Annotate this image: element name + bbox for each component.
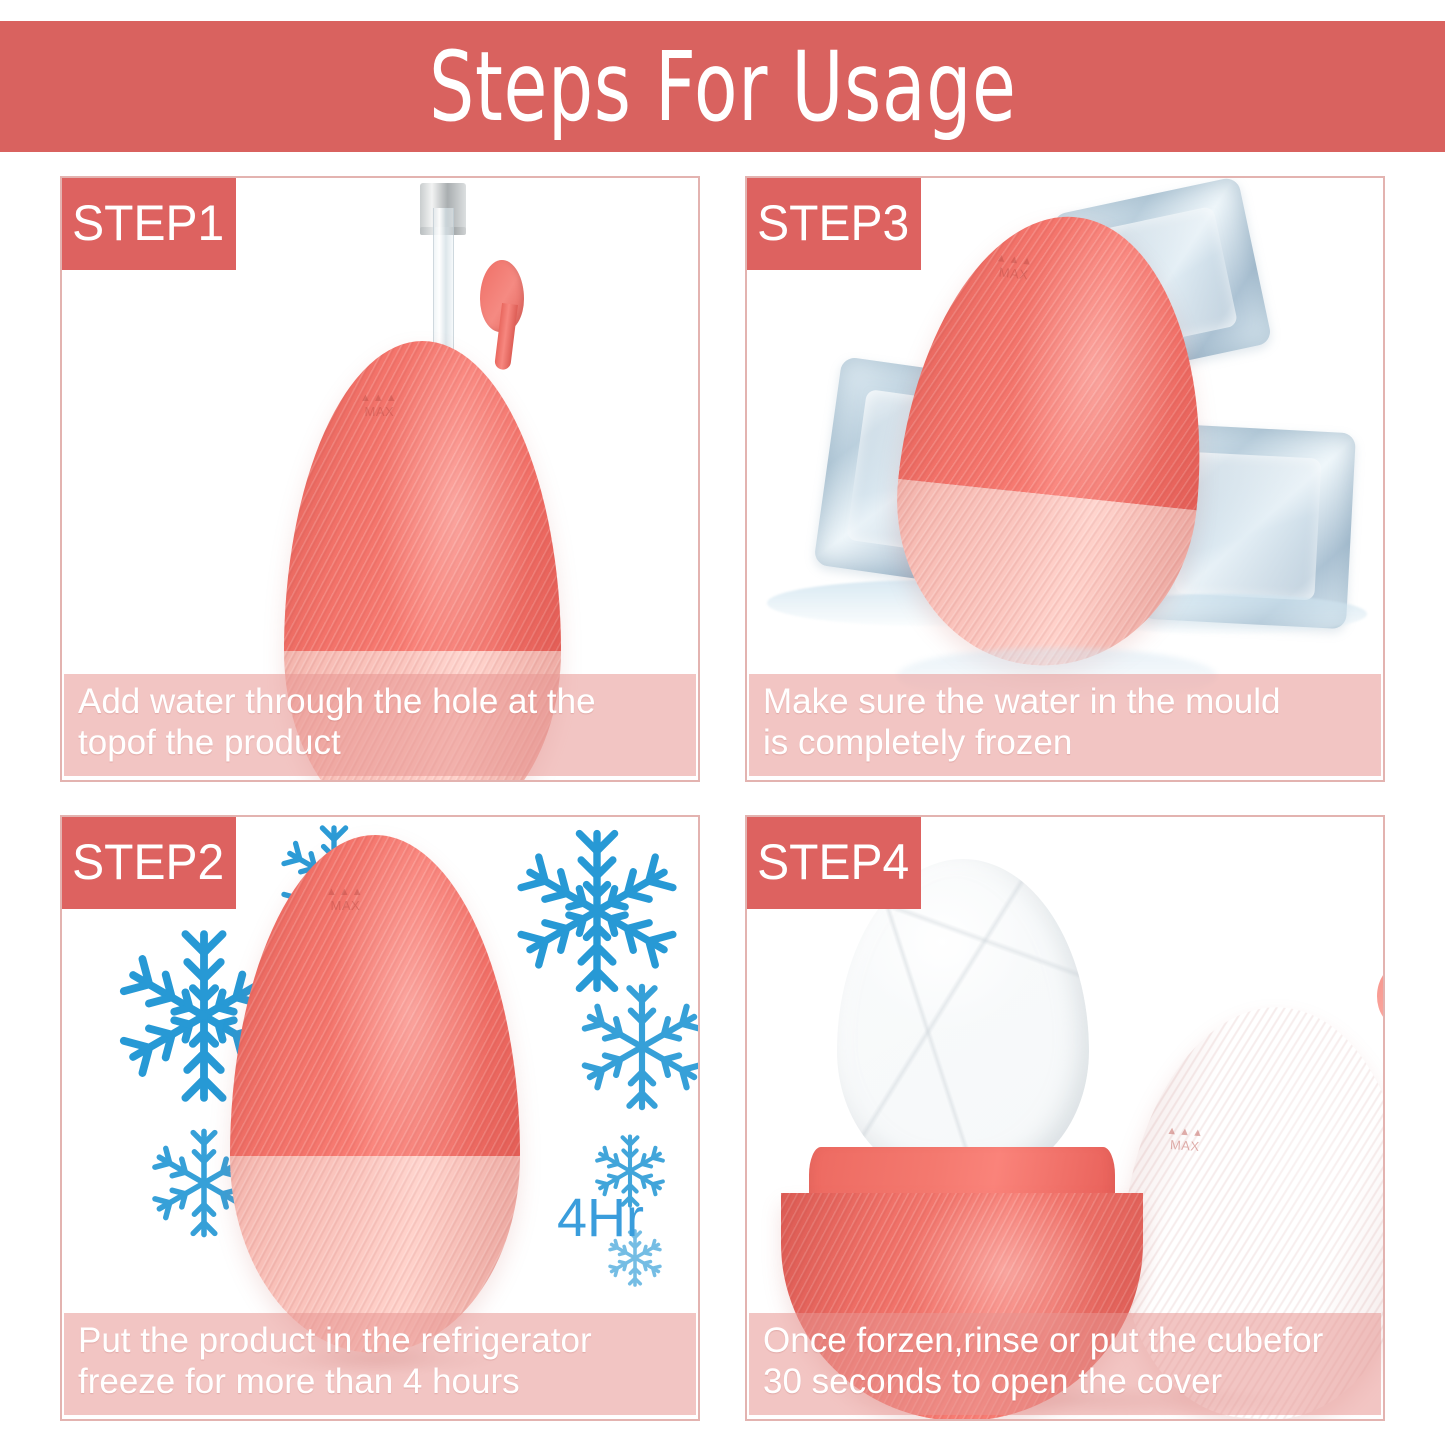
step-panel-3: ▲▲▲ MAX STEP3 Make sure the water in the… [745, 176, 1385, 782]
step-caption-1: Add water through the hole at the topof … [64, 674, 696, 776]
step-caption-2: Put the product in the refrigerator free… [64, 1313, 696, 1415]
caption-line-1: Add water through the hole at the [78, 682, 682, 723]
step-panel-2: ▲▲▲ MAX 4Hr STEP2 Put the product in the… [60, 815, 700, 1421]
max-label: MAX [1170, 1137, 1201, 1154]
step-badge-label: STEP4 [757, 833, 909, 891]
coral-egg-mould: ▲▲▲ MAX [230, 835, 520, 1353]
coral-egg-mould: ▲▲▲ MAX [880, 202, 1225, 681]
max-arrow-icon: ▲▲▲ [1166, 1126, 1205, 1140]
step-badge-label: STEP2 [72, 833, 224, 891]
caption-line-2: freeze for more than 4 hours [78, 1362, 682, 1403]
caption-line-2: 30 seconds to open the cover [763, 1362, 1367, 1403]
step-badge-4: STEP4 [745, 815, 921, 909]
step-caption-3: Make sure the water in the mould is comp… [749, 674, 1381, 776]
page-header-banner: Steps For Usage [0, 21, 1445, 152]
caption-line-1: Make sure the water in the mould [763, 682, 1367, 723]
caption-line-2: is completely frozen [763, 723, 1367, 764]
duration-label: 4Hr [557, 1187, 644, 1249]
mould-top-section [284, 341, 561, 651]
step-panel-4: ▲▲▲ MAX STEP4 Once forzen,rinse or put t… [745, 815, 1385, 1421]
mould-top-section [898, 202, 1226, 511]
caption-line-1: Put the product in the refrigerator [78, 1321, 682, 1362]
page-title: Steps For Usage [429, 39, 1016, 135]
step-panel-1: ▲▲▲ MAX STEP1 Add water through the hole… [60, 176, 700, 782]
caption-line-2: topof the product [78, 723, 682, 764]
silicone-plug [1377, 965, 1383, 1025]
step-badge-label: STEP1 [72, 194, 224, 252]
caption-line-1: Once forzen,rinse or put the cubefor [763, 1321, 1367, 1362]
step-caption-4: Once forzen,rinse or put the cubefor 30 … [749, 1313, 1381, 1415]
steps-grid: ▲▲▲ MAX STEP1 Add water through the hole… [60, 176, 1385, 1421]
max-fill-marking: ▲▲▲ MAX [1165, 1126, 1205, 1154]
step-badge-1: STEP1 [60, 176, 236, 270]
step-badge-label: STEP3 [757, 194, 909, 252]
step-badge-3: STEP3 [745, 176, 921, 270]
mould-top-section [230, 835, 520, 1156]
snowflake-icon [572, 977, 698, 1117]
snowflake-icon [509, 823, 685, 999]
step-badge-2: STEP2 [60, 815, 236, 909]
